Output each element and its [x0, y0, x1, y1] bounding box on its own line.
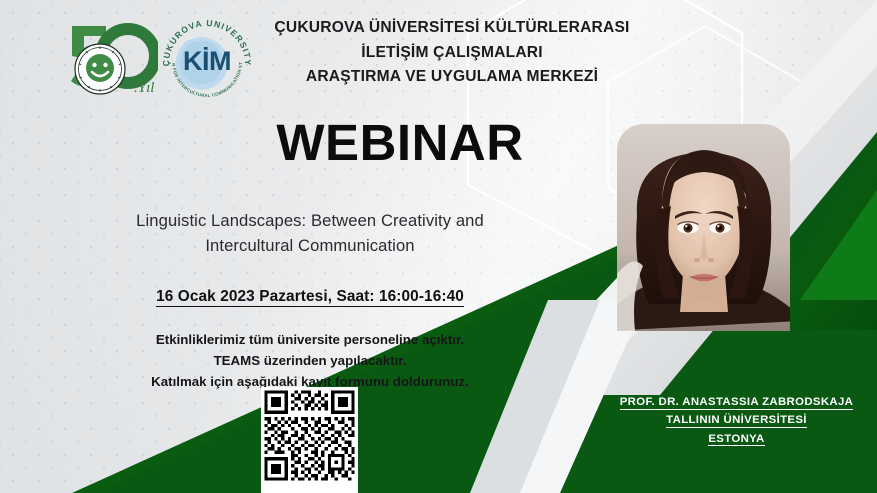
speaker-photo — [617, 124, 790, 331]
qr-code-image[interactable] — [261, 387, 358, 484]
speaker-name-line: PROF. DR. ANASTASSIA ZABRODSKAJA — [596, 393, 877, 411]
webinar-subtitle-line2: Intercultural Communication — [60, 233, 560, 258]
event-datetime: 16 Ocak 2023 Pazartesi, Saat: 16:00-16:4… — [60, 288, 560, 306]
speaker-name: PROF. DR. ANASTASSIA ZABRODSKAJA — [620, 396, 854, 410]
registration-qr-code[interactable] — [261, 387, 358, 493]
logo-group: .Yıl KİM ÇUKUROVA UNIVERSITY CENTER FOR … — [62, 8, 252, 108]
speaker-portrait-image — [617, 124, 790, 331]
event-type-heading: WEBINAR — [150, 113, 650, 172]
webinar-poster: .Yıl KİM ÇUKUROVA UNIVERSITY CENTER FOR … — [0, 0, 877, 493]
speaker-country: ESTONYA — [708, 433, 764, 447]
speaker-country-line: ESTONYA — [596, 430, 877, 448]
speaker-institution: TALLININ ÜNİVERSİTESİ — [666, 414, 807, 428]
cukurova-50th-year-logo: .Yıl — [62, 12, 158, 104]
webinar-subtitle: Linguistic Landscapes: Between Creativit… — [60, 208, 560, 258]
speaker-institution-line: TALLININ ÜNİVERSİTESİ — [596, 411, 877, 429]
organization-title-line1: ÇUKUROVA ÜNİVERSİTESİ KÜLTÜRLERARASI — [228, 16, 676, 41]
organization-title-line2: İLETİŞİM ÇALIŞMALARI — [228, 41, 676, 66]
event-info: Etkinliklerimiz tüm üniversite personeli… — [60, 330, 560, 393]
speaker-caption: PROF. DR. ANASTASSIA ZABRODSKAJA TALLINI… — [596, 393, 877, 448]
svg-text:KİM: KİM — [183, 46, 231, 76]
svg-text:.Yıl: .Yıl — [134, 80, 154, 96]
event-info-line2: TEAMS üzerinden yapılacaktır. — [60, 351, 560, 372]
event-info-line1: Etkinliklerimiz tüm üniversite personeli… — [60, 330, 560, 351]
organization-title-line3: ARAŞTIRMA VE UYGULAMA MERKEZİ — [228, 65, 676, 90]
webinar-subtitle-line1: Linguistic Landscapes: Between Creativit… — [60, 208, 560, 233]
event-datetime-text: 16 Ocak 2023 Pazartesi, Saat: 16:00-16:4… — [156, 288, 464, 307]
organization-title: ÇUKUROVA ÜNİVERSİTESİ KÜLTÜRLERARASI İLE… — [228, 16, 676, 90]
